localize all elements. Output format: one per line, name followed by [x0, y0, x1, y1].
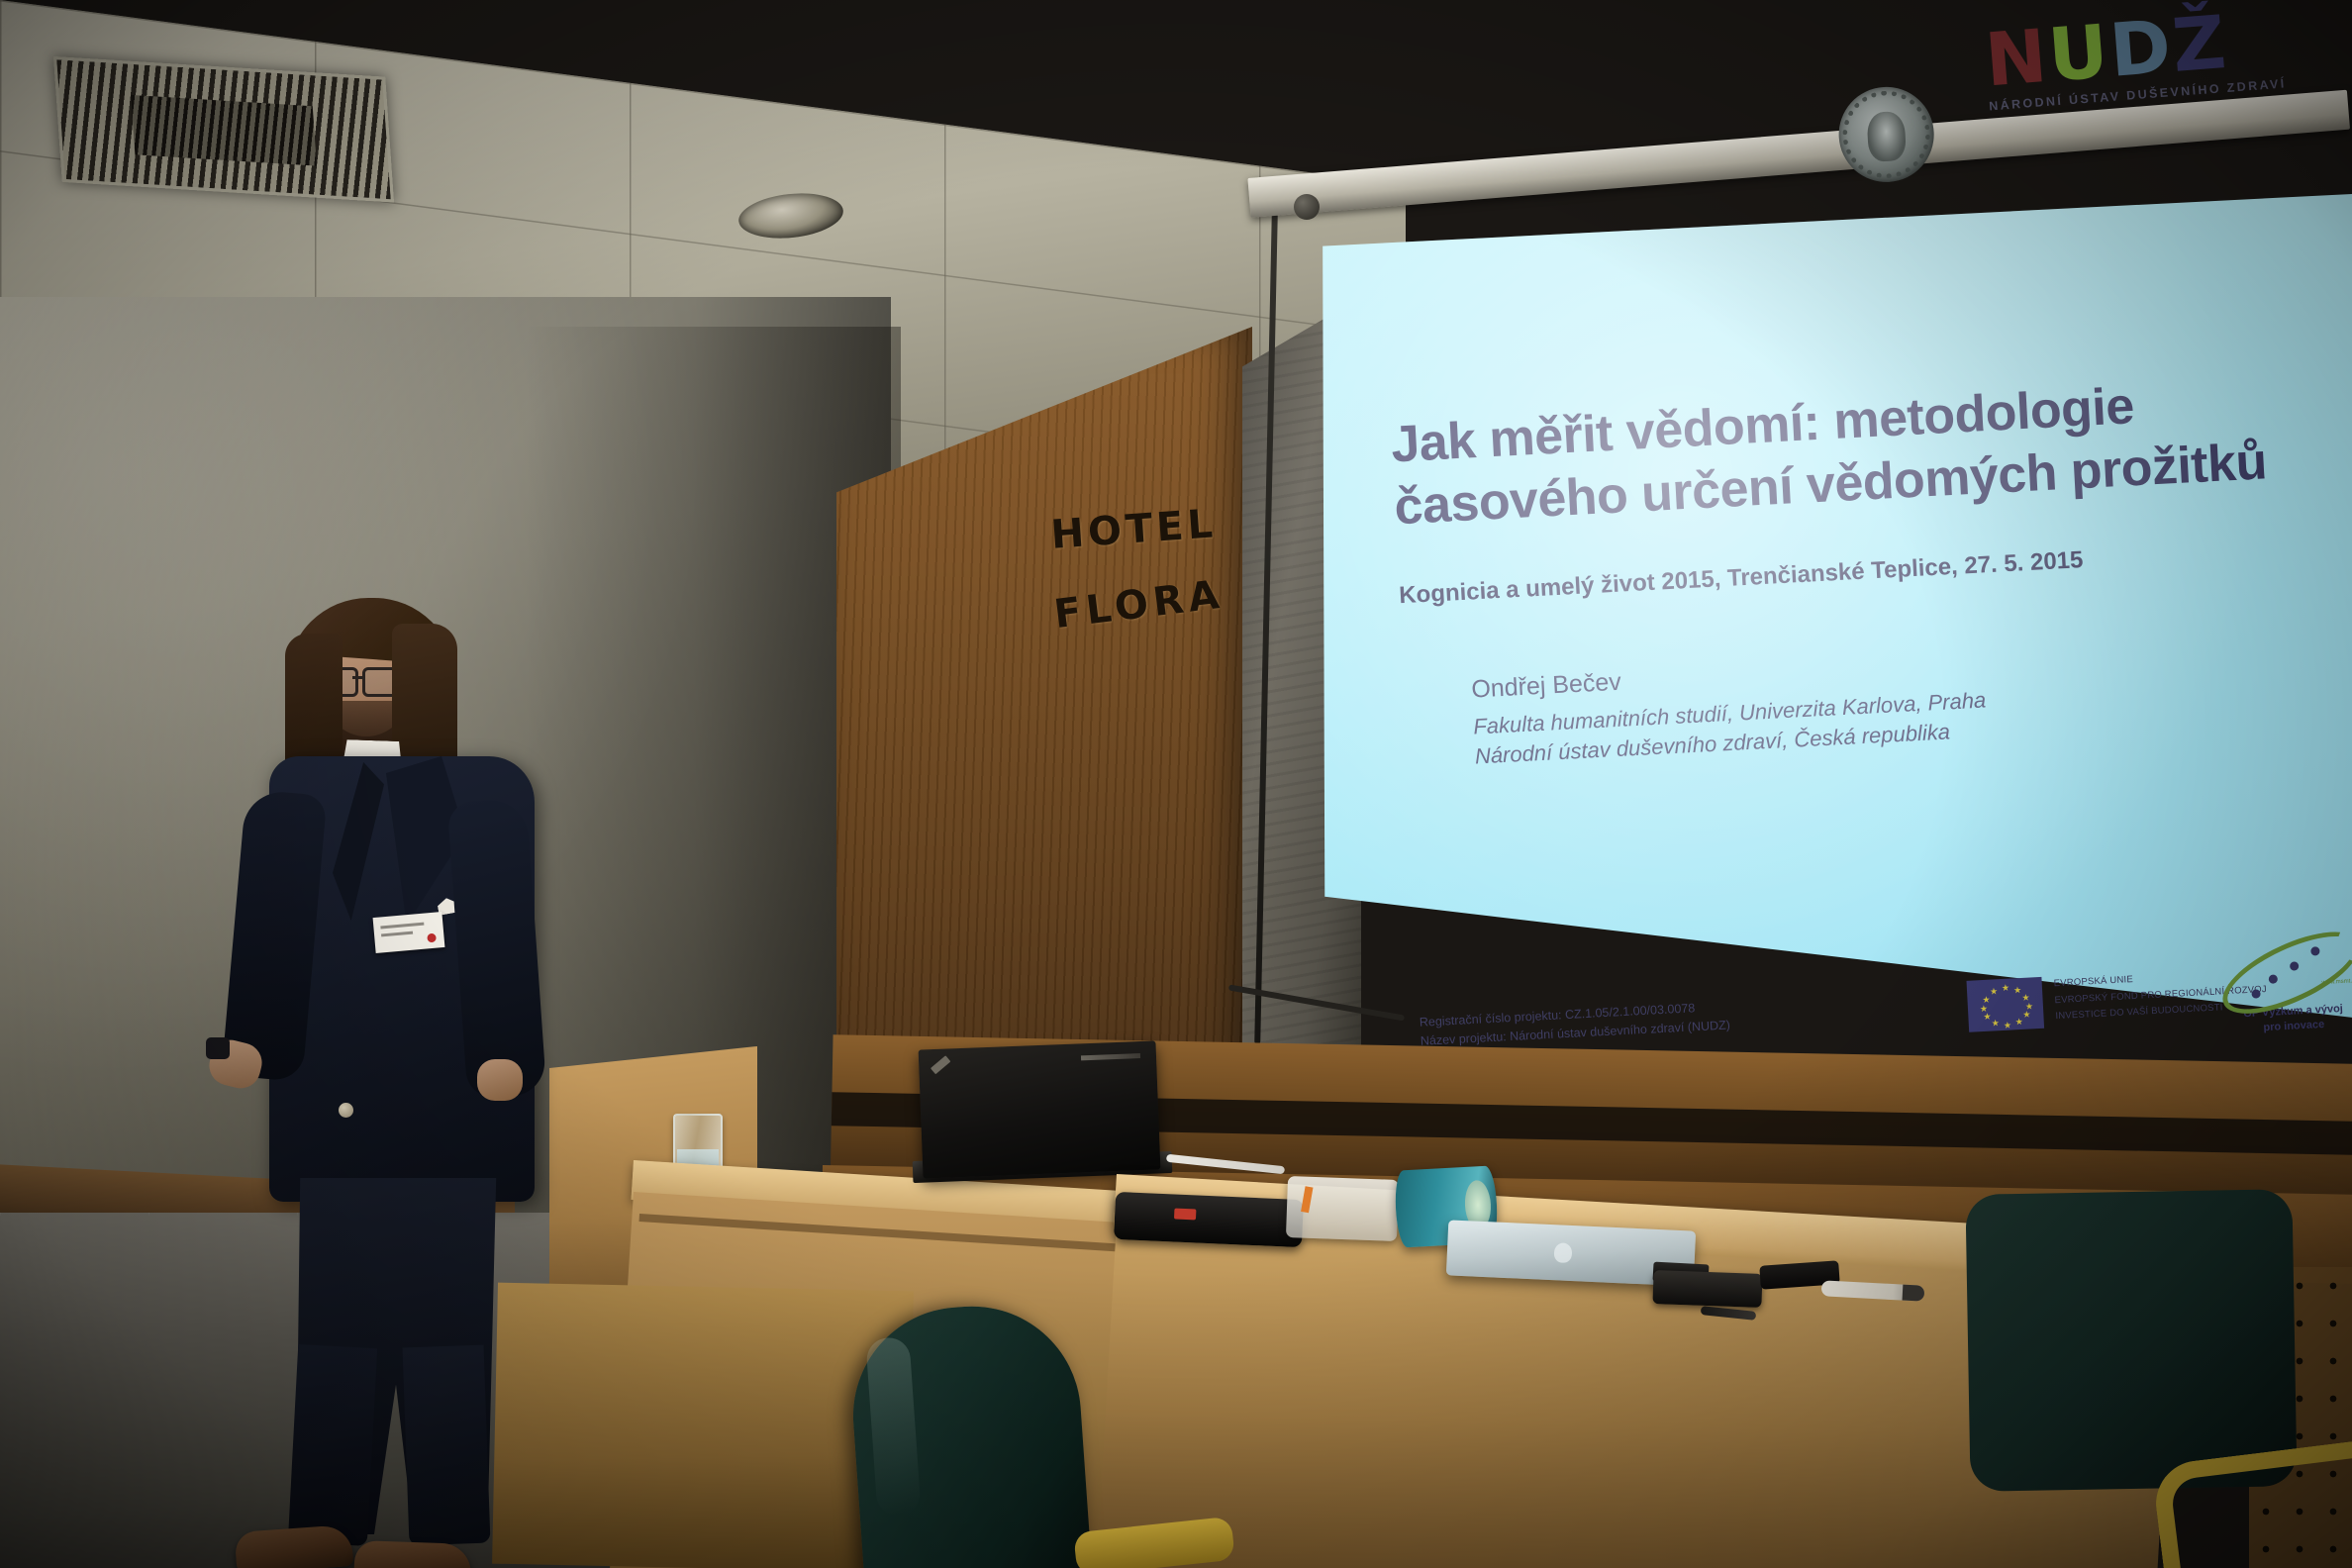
chair-highlight — [865, 1336, 921, 1518]
name-badge — [373, 912, 445, 953]
badge-logo-dot — [427, 933, 437, 943]
eu-flag-icon: ★ ★ ★ ★ ★ ★ ★ ★ ★ ★ ★ ★ — [1966, 977, 2044, 1032]
presenter-leg-right — [403, 1345, 491, 1546]
nudz-letter-d: D — [2107, 4, 2176, 94]
blazer-lapel-left — [333, 762, 384, 921]
thinkpad-logo-icon — [931, 1055, 950, 1074]
thinkpad-laptop[interactable] — [919, 1040, 1161, 1178]
slide-footnote: Registrační číslo projektu: CZ.1.05/2.1.… — [1419, 997, 1730, 1051]
vent-inner-louvers — [131, 95, 318, 166]
presentation-clicker[interactable] — [206, 1037, 230, 1059]
blazer-button-1 — [339, 1103, 353, 1118]
thinkpad-brand-text — [1081, 1053, 1140, 1060]
hvac-air-vent-icon — [53, 56, 394, 203]
presenter-shoe-right — [353, 1540, 471, 1568]
nudz-letter-z: Ž — [2169, 0, 2230, 89]
slide-title: Jak měřit vědomí: metodologie časového u… — [1390, 367, 2296, 539]
presentation-slide: NUDŽ NÁRODNÍ ÚSTAV DUŠEVNÍHO ZDRAVÍ Jak … — [1319, 140, 2352, 1123]
hotel-flora-sign: HOTEL FLORA — [1043, 501, 1229, 634]
badge-text-line1 — [380, 923, 424, 930]
op-watermark: www.msmt.cz — [2321, 978, 2352, 986]
glasses-bridge — [352, 676, 362, 679]
slide-author-block: Ondřej Bečev Fakulta humanitních studií,… — [1471, 632, 2326, 771]
transparent-pouch[interactable] — [1286, 1176, 1399, 1241]
screen-mount-knob — [1294, 194, 1320, 220]
conference-room-photo: HOTEL FLORA NUDŽ NÁRODNÍ ÚSTAV DUŠEVNÍHO… — [0, 0, 2352, 1568]
op-vavpi-ellipse-icon: www.msmt.cz — [2215, 940, 2352, 1006]
marker-cap — [1903, 1285, 1925, 1302]
background-chair[interactable] — [1965, 1189, 2297, 1492]
apple-logo-icon — [1554, 1242, 1573, 1263]
presenter-remote[interactable] — [1652, 1270, 1762, 1308]
presenter — [247, 594, 584, 1568]
slide-subtitle: Kognicia a umelý život 2015, Trenčianské… — [1399, 536, 2290, 610]
nudz-letter-n: N — [1982, 14, 2051, 104]
op-vavpi-logo: www.msmt.cz OP Výzkum a vývoj pro inovac… — [2210, 940, 2352, 1038]
nudz-letter-u: U — [2045, 9, 2113, 99]
presenter-shoe-left — [235, 1524, 354, 1568]
presenter-leg-left — [288, 1344, 377, 1546]
charles-university-seal-icon — [1836, 84, 1936, 184]
sleeve-brand-tag — [1174, 1208, 1196, 1220]
badge-text-line2 — [381, 931, 413, 937]
pouch-orange-stripe — [1301, 1186, 1313, 1213]
laptop-sleeve[interactable] — [1114, 1192, 1304, 1247]
presenter-right-hand — [477, 1059, 523, 1101]
